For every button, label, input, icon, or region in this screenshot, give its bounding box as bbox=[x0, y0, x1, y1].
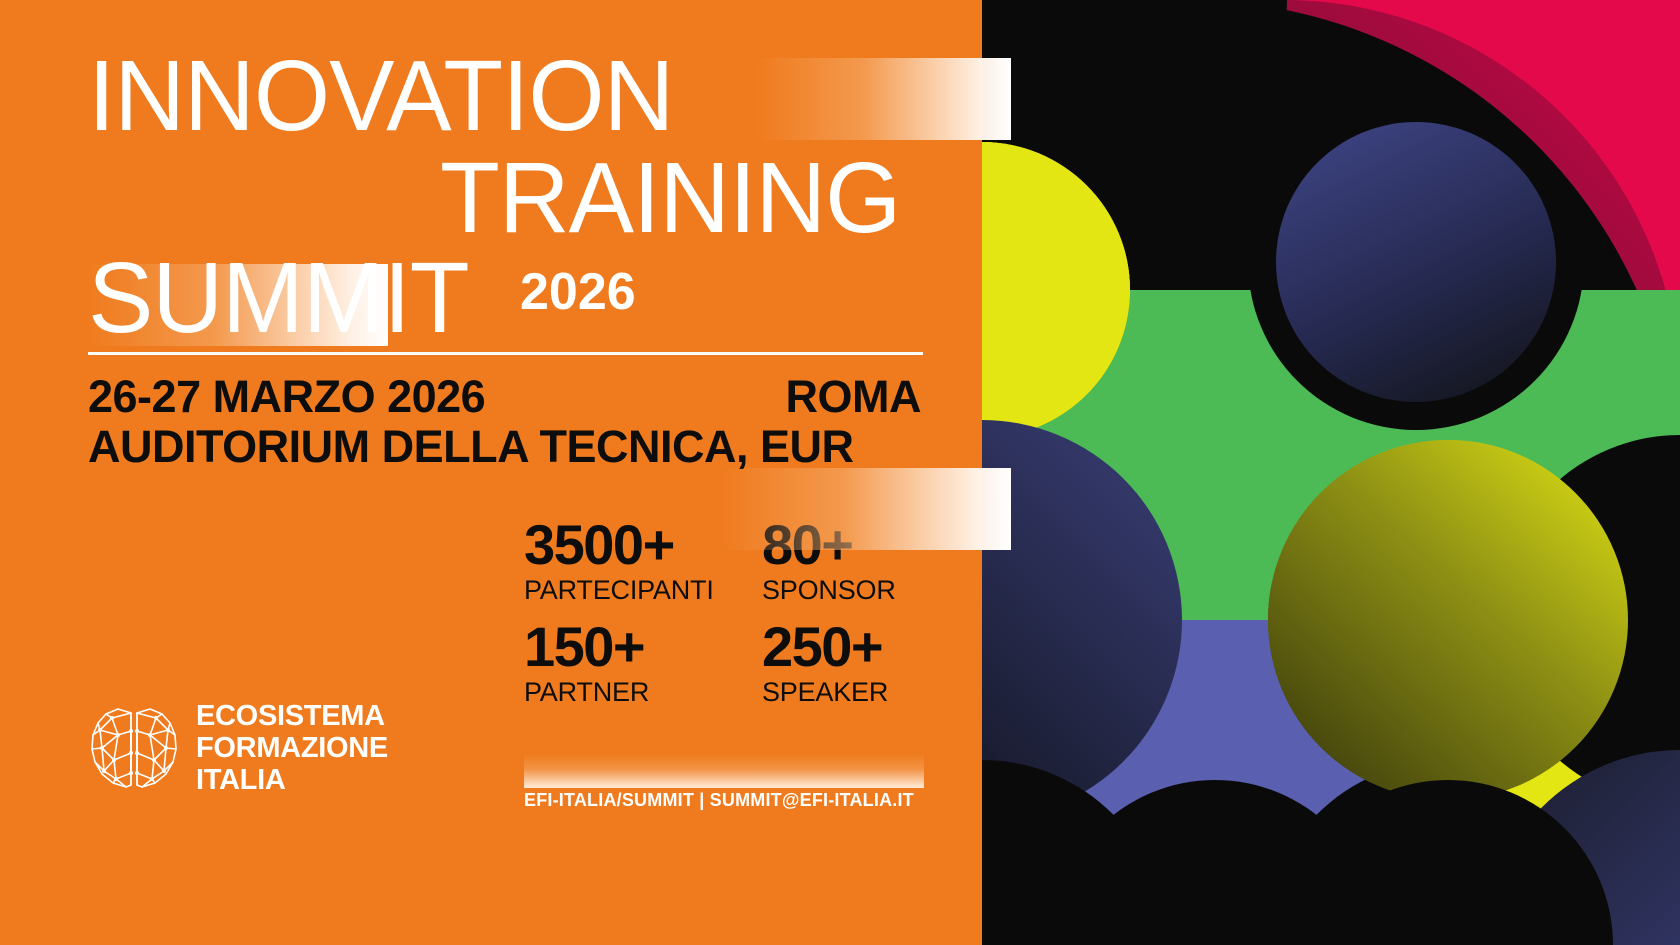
title-line-training: TRAINING bbox=[440, 148, 900, 248]
stat-label: PARTECIPANTI bbox=[524, 574, 762, 606]
contact-gradient-bar bbox=[524, 754, 924, 788]
event-meta-block: 26-27 MARZO 2026 ROMA AUDITORIUM DELLA T… bbox=[88, 372, 928, 424]
stat-label: SPONSOR bbox=[762, 574, 928, 606]
stats-row-bottom: 150+ PARTNER 250+ SPEAKER bbox=[524, 618, 928, 708]
poster-title-block: INNOVATION TRAINING SUMMIT 2026 bbox=[88, 42, 923, 348]
stat-value: 250+ bbox=[762, 618, 928, 676]
stat-value: 150+ bbox=[524, 618, 762, 676]
geometric-circles-artwork bbox=[982, 0, 1680, 945]
event-venue: AUDITORIUM DELLA TECNICA, EUR bbox=[88, 422, 854, 472]
title-line-summit: SUMMIT bbox=[88, 248, 469, 348]
event-city: ROMA bbox=[786, 372, 921, 422]
brain-network-icon bbox=[88, 705, 180, 791]
artwork-svg bbox=[982, 0, 1680, 945]
stat-label: PARTNER bbox=[524, 676, 762, 708]
logo-wordmark: ECOSISTEMA FORMAZIONE ITALIA bbox=[196, 700, 388, 796]
artwork-navy-ball bbox=[1276, 122, 1556, 402]
title-gradient-bar-3 bbox=[721, 468, 1011, 550]
event-poster: INNOVATION TRAINING SUMMIT 2026 26-27 MA… bbox=[0, 0, 1680, 945]
logo-word-line-2: FORMAZIONE bbox=[196, 732, 388, 764]
title-line-1-row: INNOVATION bbox=[88, 42, 923, 146]
stat-speaker: 250+ SPEAKER bbox=[762, 618, 928, 708]
event-meta-top-row: 26-27 MARZO 2026 ROMA bbox=[88, 372, 928, 424]
stat-partner: 150+ PARTNER bbox=[524, 618, 762, 708]
title-line-2-row: TRAINING bbox=[88, 146, 923, 248]
stat-label: SPEAKER bbox=[762, 676, 928, 708]
left-content-panel: INNOVATION TRAINING SUMMIT 2026 26-27 MA… bbox=[0, 0, 982, 945]
title-line-innovation: INNOVATION bbox=[88, 46, 673, 146]
event-date: 26-27 MARZO 2026 bbox=[88, 372, 485, 422]
logo-word-line-1: ECOSISTEMA bbox=[196, 700, 388, 732]
title-year: 2026 bbox=[520, 266, 636, 318]
title-gradient-bar-1 bbox=[756, 58, 1011, 140]
title-line-3-row: SUMMIT 2026 bbox=[88, 248, 923, 348]
contact-line[interactable]: EFI-ITALIA/SUMMIT | SUMMIT@EFI-ITALIA.IT bbox=[524, 789, 934, 811]
organization-logo: ECOSISTEMA FORMAZIONE ITALIA bbox=[88, 700, 388, 796]
logo-word-line-3: ITALIA bbox=[196, 764, 388, 796]
